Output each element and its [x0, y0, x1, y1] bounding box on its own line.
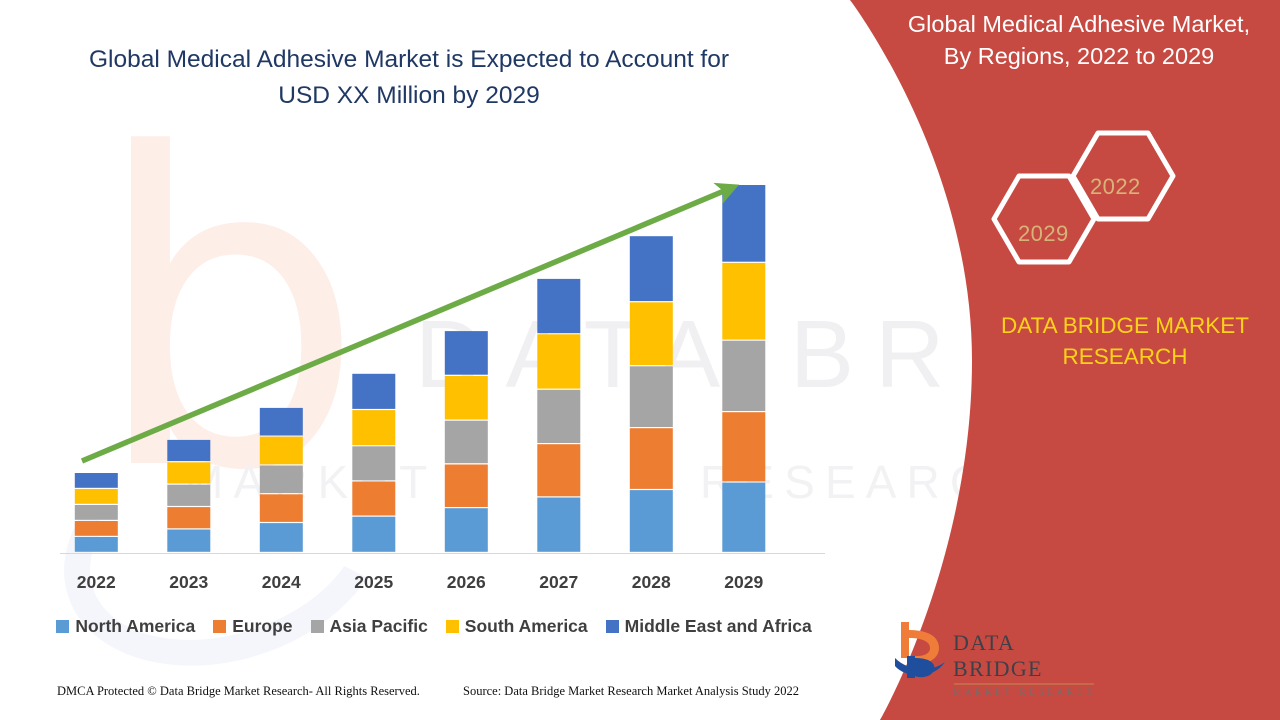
bar-segment-europe — [537, 444, 580, 496]
bar-segment-middle-east-and-africa — [630, 236, 673, 301]
bar-segment-south-america — [167, 462, 210, 483]
panel-title-line2: By Regions, 2022 to 2029 — [888, 40, 1270, 72]
bar-segment-north-america — [260, 523, 303, 552]
bar-segment-middle-east-and-africa — [722, 185, 765, 262]
legend-label-asia-pacific: Asia Pacific — [330, 616, 428, 637]
bar-segment-asia-pacific — [445, 421, 488, 464]
bar-segment-south-america — [260, 437, 303, 465]
legend-item-europe[interactable]: Europe — [213, 616, 292, 637]
bar-segment-europe — [167, 507, 210, 528]
bar-segment-middle-east-and-africa — [537, 279, 580, 333]
legend-label-europe: Europe — [232, 616, 292, 637]
bar-2023 — [167, 440, 210, 552]
logo-wordmark: DATA BRIDGE MARKET RESEARCH — [953, 630, 1103, 697]
panel-title: Global Medical Adhesive Market, By Regio… — [888, 8, 1270, 72]
legend-swatch-asia-pacific — [311, 620, 324, 633]
bar-2027 — [537, 279, 580, 552]
brand-name-line1: DATA BRIDGE MARKET — [1001, 313, 1249, 338]
bar-segment-south-america — [722, 263, 765, 340]
bar-segment-middle-east-and-africa — [75, 473, 118, 488]
brand-name: DATA BRIDGE MARKET RESEARCH — [960, 310, 1280, 372]
legend-label-south-america: South America — [465, 616, 588, 637]
bar-segment-north-america — [352, 517, 395, 552]
bar-segment-asia-pacific — [630, 366, 673, 427]
bar-segment-north-america — [722, 483, 765, 552]
bar-segment-asia-pacific — [75, 505, 118, 520]
bar-segment-north-america — [445, 508, 488, 552]
legend-item-north-america[interactable]: North America — [56, 616, 195, 637]
bar-2026 — [445, 331, 488, 552]
bar-segment-north-america — [630, 490, 673, 552]
bar-segment-europe — [260, 494, 303, 522]
bar-2028 — [630, 236, 673, 552]
x-axis-label-2027: 2027 — [513, 572, 606, 593]
legend-swatch-north-america — [56, 620, 69, 633]
bar-2025 — [352, 374, 395, 552]
year-hexagons: 2022 2029 — [985, 128, 1185, 278]
bar-2024 — [260, 408, 303, 552]
bar-segment-asia-pacific — [167, 485, 210, 506]
panel-title-line1: Global Medical Adhesive Market, — [908, 11, 1250, 37]
bar-segment-asia-pacific — [722, 341, 765, 411]
bar-segment-europe — [352, 482, 395, 516]
bar-segment-europe — [75, 521, 118, 536]
infographic-slide: b DATA BRIDGE MARKET RESEARCH Global Med… — [0, 0, 1280, 720]
logo-subtitle: MARKET RESEARCH — [953, 687, 1103, 697]
company-logo: DATA BRIDGE MARKET RESEARCH — [893, 618, 1103, 684]
bar-segment-europe — [445, 465, 488, 508]
bar-segment-middle-east-and-africa — [167, 440, 210, 461]
logo-title: DATA BRIDGE — [953, 630, 1103, 682]
legend-label-north-america: North America — [75, 616, 195, 637]
source-notice: Source: Data Bridge Market Research Mark… — [463, 684, 799, 699]
bar-segment-europe — [630, 428, 673, 489]
bar-segment-south-america — [352, 410, 395, 445]
stacked-bar-chart — [0, 0, 840, 600]
x-axis-label-2024: 2024 — [235, 572, 328, 593]
hexagon-2029-label: 2029 — [1018, 221, 1069, 247]
x-axis-label-2025: 2025 — [328, 572, 421, 593]
x-axis-label-2022: 2022 — [50, 572, 143, 593]
copyright-notice: DMCA Protected © Data Bridge Market Rese… — [57, 684, 420, 699]
bar-segment-asia-pacific — [537, 390, 580, 443]
bar-segment-south-america — [445, 376, 488, 420]
x-axis-label-2023: 2023 — [143, 572, 236, 593]
bar-segment-north-america — [167, 530, 210, 552]
hexagon-2022-label: 2022 — [1090, 174, 1141, 200]
bar-segment-middle-east-and-africa — [445, 331, 488, 375]
bar-segment-middle-east-and-africa — [260, 408, 303, 436]
bar-segment-south-america — [537, 334, 580, 388]
logo-divider — [954, 683, 1094, 685]
legend-swatch-south-america — [446, 620, 459, 633]
bar-segment-asia-pacific — [352, 446, 395, 480]
chart-legend: North AmericaEuropeAsia PacificSouth Ame… — [0, 616, 868, 637]
bar-2029 — [722, 185, 765, 552]
legend-item-middle-east-and-africa[interactable]: Middle East and Africa — [606, 616, 812, 637]
x-axis-label-2026: 2026 — [420, 572, 513, 593]
x-axis-label-2028: 2028 — [605, 572, 698, 593]
x-axis-label-2029: 2029 — [698, 572, 791, 593]
bar-2022 — [75, 473, 118, 552]
legend-item-south-america[interactable]: South America — [446, 616, 588, 637]
bar-segment-south-america — [75, 489, 118, 504]
bar-segment-europe — [722, 412, 765, 481]
legend-swatch-europe — [213, 620, 226, 633]
brand-name-line2: RESEARCH — [1062, 344, 1187, 369]
hexagon-2029-shape — [994, 176, 1094, 262]
x-axis-labels: 20222023202420252026202720282029 — [0, 572, 840, 593]
logo-mark-icon — [893, 618, 951, 680]
chart-plot-area — [0, 0, 840, 600]
bar-segment-north-america — [537, 498, 580, 552]
bar-segment-south-america — [630, 302, 673, 365]
bar-segment-north-america — [75, 537, 118, 552]
legend-swatch-middle-east-and-africa — [606, 620, 619, 633]
legend-item-asia-pacific[interactable]: Asia Pacific — [311, 616, 428, 637]
legend-label-middle-east-and-africa: Middle East and Africa — [625, 616, 812, 637]
x-axis-line — [60, 553, 825, 554]
bar-segment-middle-east-and-africa — [352, 374, 395, 409]
bar-segment-asia-pacific — [260, 466, 303, 494]
